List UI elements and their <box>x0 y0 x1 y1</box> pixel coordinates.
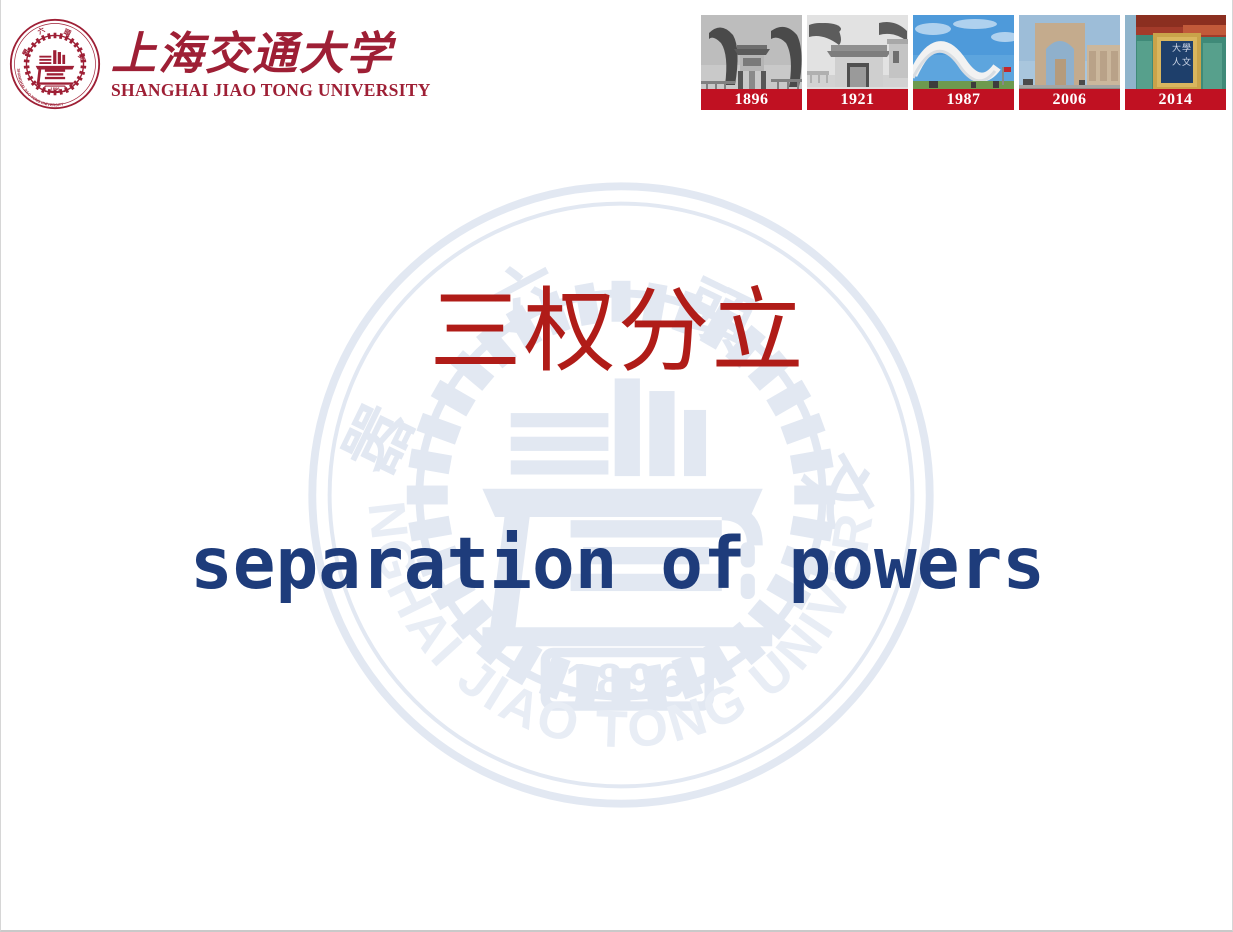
timeline-year-label: 2014 <box>1125 89 1226 110</box>
timeline-item-1987: 1987 <box>913 15 1014 110</box>
timeline-year-label: 1987 <box>913 89 1014 110</box>
university-brand: 1896 六 頭 嚣 文 SHANGHAI JIAO TONG UNIVERSI… <box>9 18 431 110</box>
timeline-year-label: 1896 <box>701 89 802 110</box>
campus-gate-timeline: 1896 <box>701 15 1226 110</box>
brand-name-en: SHANGHAI JIAO TONG UNIVERSITY <box>111 80 431 101</box>
svg-text:文: 文 <box>1182 56 1191 67</box>
timeline-year-label: 1921 <box>807 89 908 110</box>
svg-text:SHANGHAI JIAO TONG UNIVERSITY: SHANGHAI JIAO TONG UNIVERSITY <box>306 180 885 760</box>
timeline-item-1921: 1921 <box>807 15 908 110</box>
presentation-slide: 1896 六 頭 嚣 文 SHANGHAI JIAO TONG UNIVERSI… <box>0 0 1233 932</box>
timeline-item-2006: 2006 <box>1019 15 1120 110</box>
svg-text:人: 人 <box>1172 57 1181 67</box>
sjtu-seal-icon: 1896 六 頭 嚣 文 SHANGHAI JIAO TONG UNIVERSI… <box>9 18 101 110</box>
timeline-item-1896: 1896 <box>701 15 802 110</box>
sjtu-seal-watermark-icon: 1896 六 頭 嚣 文 SHANGHAI JIAO TONG UNIVERSI… <box>306 180 936 810</box>
svg-text:大: 大 <box>1172 42 1181 53</box>
brand-text-block: 上海交通大学 SHANGHAI JIAO TONG UNIVERSITY <box>111 27 431 101</box>
svg-text:嚣: 嚣 <box>333 394 428 485</box>
slide-subtitle-en: separation of powers <box>1 525 1233 603</box>
brand-name-cn: 上海交通大学 <box>111 31 431 78</box>
timeline-item-2014: 大 學 人 文 2014 <box>1125 15 1226 110</box>
timeline-year-label: 2006 <box>1019 89 1120 110</box>
svg-text:六: 六 <box>36 25 47 36</box>
svg-text:1896: 1896 <box>50 87 60 92</box>
slide-title-cn: 三权分立 <box>1 286 1233 378</box>
svg-text:1896: 1896 <box>565 655 689 708</box>
svg-text:學: 學 <box>1182 42 1191 53</box>
slide-header: 1896 六 頭 嚣 文 SHANGHAI JIAO TONG UNIVERSI… <box>1 0 1233 125</box>
